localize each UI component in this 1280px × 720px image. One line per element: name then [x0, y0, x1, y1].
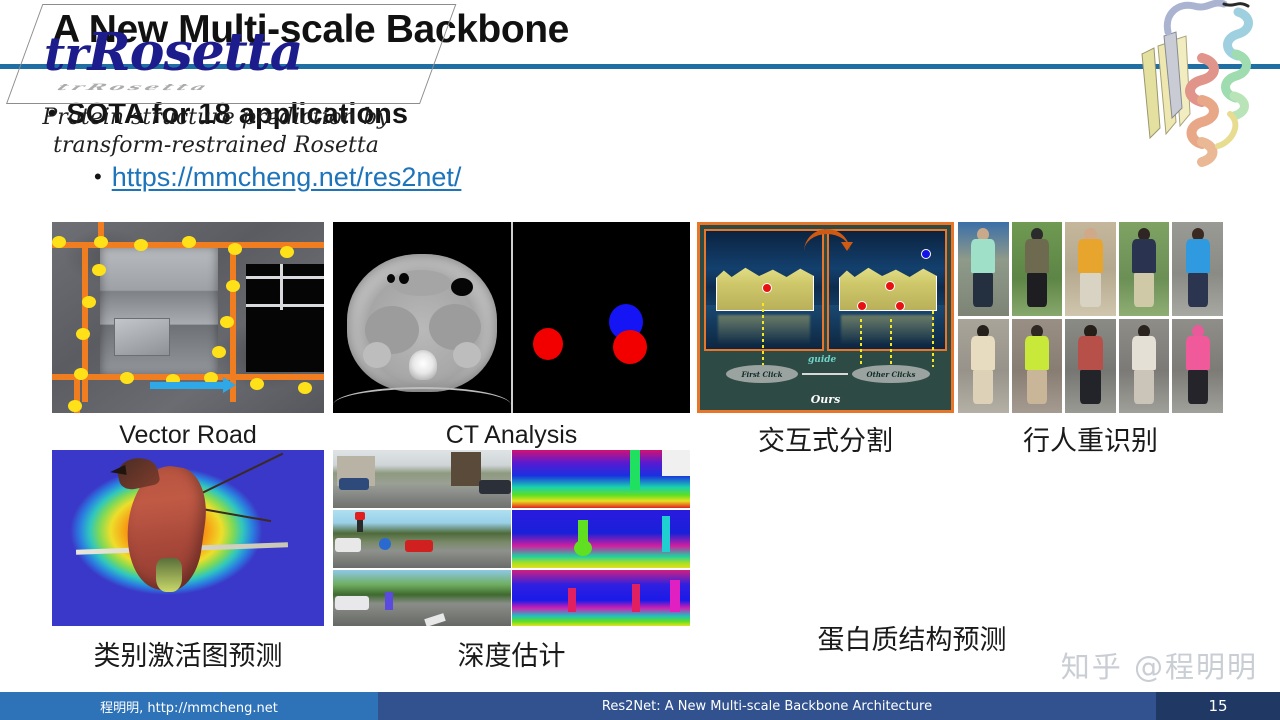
- ct-scan-panel: [333, 222, 511, 413]
- seg-label-ours: Ours: [700, 393, 951, 406]
- pedestrian-thumbnail: [1065, 319, 1116, 413]
- footer-author-label: 程明明, http://mmcheng.net: [100, 697, 278, 716]
- figure-person-reid: [958, 222, 1223, 413]
- pedestrian-thumbnail: [1012, 319, 1063, 413]
- road-vertex-node: [52, 236, 66, 248]
- seg-click-point: [857, 301, 867, 311]
- depth-rgb-input: [333, 570, 511, 626]
- zhihu-watermark: 知乎 @程明明: [1061, 644, 1258, 686]
- depth-row: [333, 570, 690, 626]
- road-mask-overlay: [246, 264, 324, 372]
- ct-spine: [409, 350, 437, 380]
- footer-title-label: Res2Net: A New Multi-scale Backbone Arch…: [602, 699, 932, 714]
- figure-depth-estimation: [333, 450, 690, 626]
- road-segment: [52, 374, 324, 380]
- rosetta-brand-logo: trRosetta: [44, 22, 302, 83]
- figure-class-activation-map: [52, 450, 324, 626]
- depth-map-output: [512, 450, 690, 508]
- bullet-level2: •https://mmcheng.net/res2net/: [94, 162, 461, 193]
- road-vertex-node: [228, 243, 242, 255]
- rosetta-subtitle-line1: Protein structure prediction by: [16, 104, 416, 132]
- pedestrian-thumbnail: [1119, 319, 1170, 413]
- depth-map-output: [512, 510, 690, 568]
- protein-ribbon-diagram: [1120, 0, 1280, 168]
- figure-interactive-segmentation: First Click guide Other Clicks Ours: [697, 222, 954, 413]
- footer-page-segment: 15: [1156, 692, 1280, 720]
- ct-air-pocket: [387, 274, 395, 283]
- ct-mask-red: [613, 330, 647, 364]
- road-vertex-node: [92, 264, 106, 276]
- road-vertex-node: [94, 236, 108, 248]
- road-vertex-node: [212, 346, 226, 358]
- pedestrian-thumbnail: [1172, 319, 1223, 413]
- figure-protein-structure: trRosetta trRosetta Protein structure pr…: [0, 0, 526, 172]
- seg-label-first-click: First Click: [726, 365, 798, 383]
- seg-click-point: [762, 283, 772, 293]
- pedestrian-thumbnail: [958, 319, 1009, 413]
- pedestrian-thumbnail: [958, 222, 1009, 316]
- seg-guide-trail: [860, 319, 862, 367]
- depth-map-output: [512, 570, 690, 626]
- road-vertex-node: [250, 378, 264, 390]
- pedestrian-thumbnail: [1012, 222, 1063, 316]
- satellite-building-block: [100, 246, 218, 376]
- depth-row: [333, 450, 690, 508]
- road-vertex-node: [220, 316, 234, 328]
- road-vertex-node: [76, 328, 90, 340]
- cam-bird-feet: [156, 558, 182, 592]
- seg-reflection: [718, 315, 810, 345]
- seg-connector: [802, 373, 848, 375]
- bullet-glyph-icon: •: [94, 164, 102, 190]
- page-number-label: 15: [1208, 697, 1227, 715]
- caption-class-activation-map: 类别激活图预测: [52, 634, 324, 673]
- road-vertex-node: [68, 400, 82, 412]
- seg-click-point: [895, 301, 905, 311]
- depth-rgb-input: [333, 450, 511, 508]
- road-vertex-node: [182, 236, 196, 248]
- caption-vector-road: Vector Road: [52, 421, 324, 450]
- caption-interactive-segmentation: 交互式分割: [697, 419, 954, 458]
- ct-body-cross-section: [347, 254, 497, 392]
- seg-label-guide: guide: [808, 355, 836, 365]
- ct-kidney: [363, 342, 391, 368]
- footer-title-segment: Res2Net: A New Multi-scale Backbone Arch…: [378, 692, 1156, 720]
- caption-depth-estimation: 深度估计: [333, 634, 690, 673]
- rosetta-brand-shadow: trRosetta: [54, 82, 213, 92]
- depth-row: [333, 510, 690, 568]
- road-vertex-node: [134, 239, 148, 251]
- slide-footer: 程明明, http://mmcheng.net Res2Net: A New M…: [0, 692, 1280, 720]
- road-vertex-node: [226, 280, 240, 292]
- road-vertex-node: [120, 372, 134, 384]
- rosetta-brand-prefix: tr: [44, 27, 87, 81]
- road-vertex-node: [298, 382, 312, 394]
- ct-table-line: [333, 387, 511, 405]
- direction-arrow-icon: [150, 382, 224, 389]
- depth-rgb-input: [333, 510, 511, 568]
- figure-ct-analysis: [333, 222, 690, 413]
- ct-mask-red: [533, 328, 563, 360]
- ct-kidney: [453, 342, 481, 368]
- ct-segmentation-panel: [513, 222, 690, 413]
- rosetta-subtitle-line2: transform-restrained Rosetta: [16, 132, 416, 160]
- caption-ct-analysis: CT Analysis: [333, 421, 690, 450]
- cam-twig: [202, 508, 271, 522]
- seg-reflection: [841, 315, 933, 345]
- seg-guide-trail: [762, 303, 764, 365]
- pedestrian-thumbnail: [1065, 222, 1116, 316]
- caption-person-reid: 行人重识别: [958, 419, 1223, 458]
- cam-twig: [202, 453, 284, 494]
- seg-guide-trail: [932, 311, 934, 367]
- figure-vector-road: [52, 222, 324, 413]
- res2net-link[interactable]: https://mmcheng.net/res2net/: [112, 162, 462, 192]
- satellite-building-small: [114, 318, 170, 356]
- seg-guide-trail: [890, 319, 892, 367]
- footer-author-segment: 程明明, http://mmcheng.net: [0, 692, 378, 720]
- rosetta-brand-rest: Rosetta: [87, 22, 302, 83]
- road-vertex-node: [280, 246, 294, 258]
- road-vertex-node: [82, 296, 96, 308]
- road-vertex-node: [74, 368, 88, 380]
- seg-click-point: [885, 281, 895, 291]
- pedestrian-thumbnail: [1119, 222, 1170, 316]
- seg-click-point-negative: [921, 249, 931, 259]
- ct-air-pocket: [451, 278, 473, 296]
- ct-air-pocket: [399, 273, 409, 284]
- rosetta-subtitle: Protein structure prediction by transfor…: [16, 104, 416, 160]
- pedestrian-thumbnail: [1172, 222, 1223, 316]
- seg-label-other-clicks: Other Clicks: [852, 365, 930, 383]
